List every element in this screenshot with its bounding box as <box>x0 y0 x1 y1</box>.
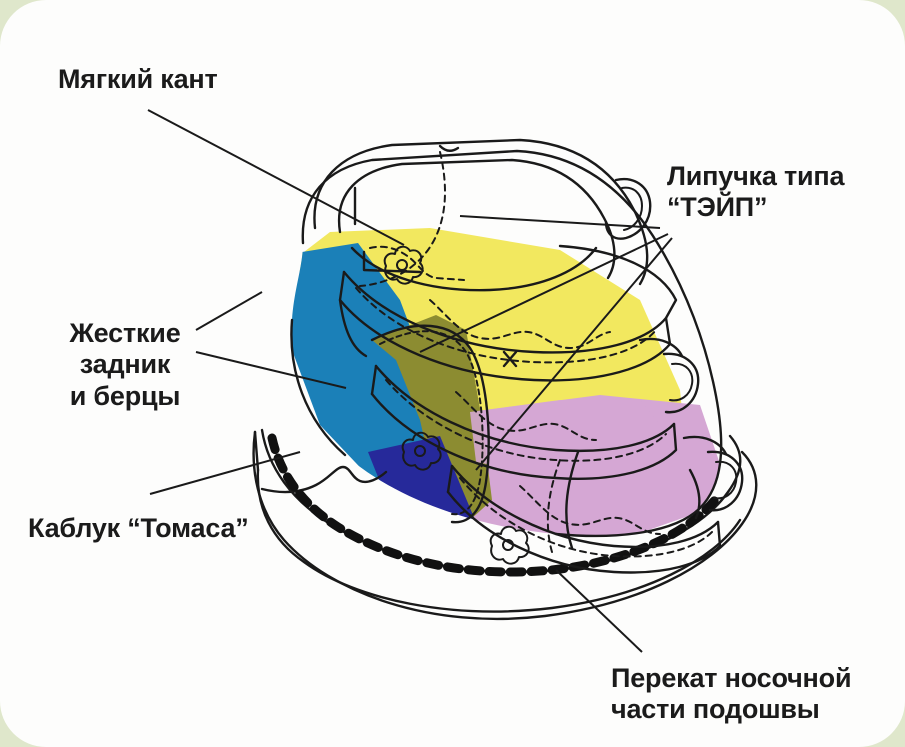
leader-tape-1 <box>460 216 660 228</box>
collar-notch <box>440 146 458 151</box>
label-stiff-counter: Жесткие задник и берцы <box>45 318 205 412</box>
color-zones <box>292 228 722 540</box>
leader-soft-collar <box>148 110 404 245</box>
label-toe-roll: Перекат носочной части подошвы <box>611 663 851 726</box>
zone-overlap-pink-yellow <box>470 400 672 478</box>
diagram-card: Мягкий кант Липучка типа “ТЭЙП” Жесткие … <box>0 0 905 747</box>
label-tape-fastener: Липучка типа “ТЭЙП” <box>667 161 844 224</box>
leader-toe-roll <box>556 570 642 652</box>
label-thomas-heel: Каблук “Томаса” <box>28 513 249 544</box>
label-soft-collar: Мягкий кант <box>58 64 218 95</box>
leader-stiff-1 <box>196 292 262 330</box>
flower-rivet-icon-3 <box>491 527 529 564</box>
